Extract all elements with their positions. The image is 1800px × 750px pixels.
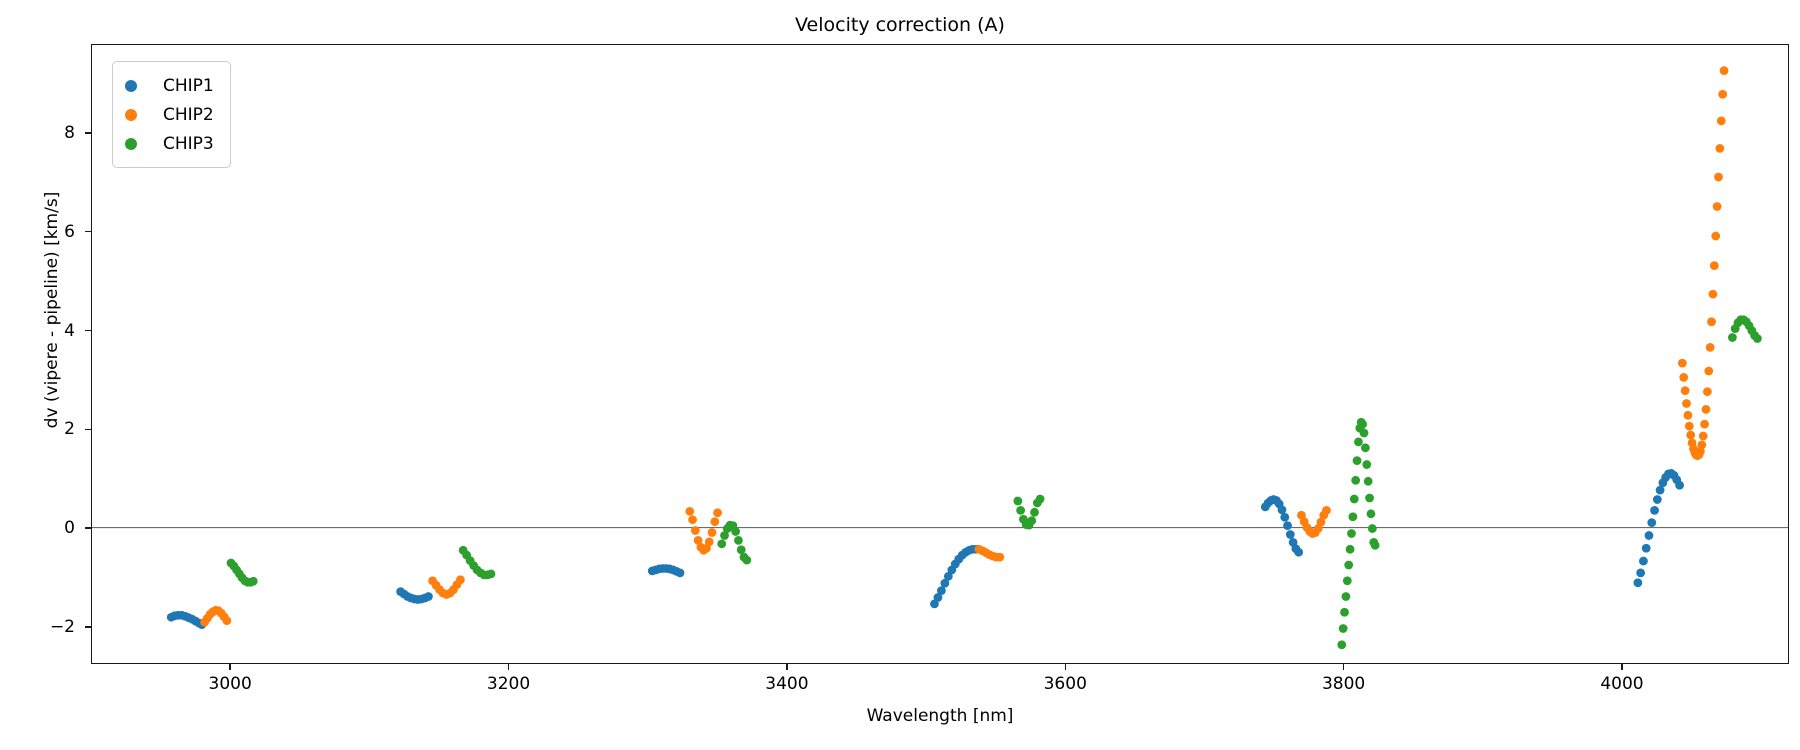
data-point (1639, 557, 1648, 566)
plot-area: CHIP1 CHIP2 CHIP3 (91, 44, 1789, 664)
data-point (456, 575, 465, 584)
data-point (1645, 531, 1654, 540)
x-tick-mark (229, 664, 230, 670)
data-point (1710, 261, 1719, 270)
data-point (1343, 576, 1352, 585)
page-title: Velocity correction (A) (0, 14, 1800, 36)
data-point (1703, 387, 1712, 396)
data-point (1368, 524, 1377, 533)
data-point (1678, 359, 1687, 368)
data-point (995, 553, 1004, 562)
data-point (1675, 481, 1684, 490)
data-point (1353, 456, 1362, 465)
data-point (1013, 497, 1022, 506)
data-point (1681, 386, 1690, 395)
legend-label-chip3: CHIP3 (163, 134, 214, 154)
data-point (1700, 420, 1709, 429)
x-tick-mark (1065, 664, 1066, 670)
data-point (1361, 443, 1370, 452)
data-point (676, 568, 685, 577)
series-chip2 (200, 66, 1728, 626)
y-tick-label: 2 (15, 419, 75, 439)
data-point (1342, 592, 1351, 601)
x-tick-label: 3200 (487, 674, 530, 694)
x-tick-label: 3600 (1044, 674, 1087, 694)
data-point (1707, 317, 1716, 326)
series-chip1 (167, 469, 1684, 629)
data-point (249, 577, 258, 586)
data-point (1283, 521, 1292, 530)
data-point (1679, 373, 1688, 382)
data-point (1718, 90, 1727, 99)
data-point (1346, 545, 1355, 554)
y-tick-label: 0 (15, 518, 75, 538)
data-point (1360, 429, 1369, 438)
data-point (1362, 460, 1371, 469)
scatter-canvas (92, 45, 1788, 663)
velocity-correction-figure: Velocity correction (A) dv (vipere - pip… (0, 0, 1800, 750)
data-point (1702, 405, 1711, 414)
data-point (1653, 495, 1662, 504)
data-point (1704, 367, 1713, 376)
data-point (1030, 508, 1039, 517)
x-tick-mark (508, 664, 509, 670)
data-point (1286, 530, 1295, 539)
data-point (1371, 541, 1380, 550)
data-point (1686, 431, 1695, 440)
data-point (1036, 495, 1045, 504)
data-point (1650, 506, 1659, 515)
data-point (1714, 173, 1723, 182)
y-tick-label: −2 (15, 617, 75, 637)
data-point (1354, 438, 1363, 447)
data-point (1340, 608, 1349, 617)
x-tick-mark (1343, 664, 1344, 670)
legend-label-chip2: CHIP2 (163, 105, 214, 125)
data-point (1642, 544, 1651, 553)
x-tick-mark (1621, 664, 1622, 670)
data-point (1351, 476, 1360, 485)
data-point (1016, 506, 1025, 515)
data-point (424, 592, 433, 601)
data-point (1350, 495, 1359, 504)
x-tick-label: 3000 (209, 674, 252, 694)
data-point (1684, 411, 1693, 420)
data-point (705, 537, 714, 546)
data-point (1294, 548, 1303, 557)
data-point (1367, 509, 1376, 518)
data-point (1682, 399, 1691, 408)
data-point (713, 508, 722, 517)
data-point (1728, 333, 1737, 342)
data-point (222, 616, 231, 625)
y-tick-label: 4 (15, 321, 75, 341)
data-point (717, 539, 726, 548)
data-point (1753, 334, 1762, 343)
legend-item-chip1[interactable]: CHIP1 (125, 71, 214, 100)
data-point (710, 517, 719, 526)
data-point (1358, 420, 1367, 429)
data-point (1636, 568, 1645, 577)
data-point (1633, 578, 1642, 587)
data-point (1364, 477, 1373, 486)
data-point (1711, 232, 1720, 241)
x-tick-mark (786, 664, 787, 670)
x-tick-label: 4000 (1600, 674, 1643, 694)
data-point (1344, 561, 1353, 570)
legend-item-chip3[interactable]: CHIP3 (125, 129, 214, 158)
data-point (742, 556, 751, 565)
data-point (1713, 202, 1722, 211)
data-point (1715, 144, 1724, 153)
data-point (688, 515, 697, 524)
legend-label-chip1: CHIP1 (163, 76, 214, 96)
legend-swatch-chip1 (125, 80, 137, 92)
data-point (1699, 432, 1708, 441)
y-tick-label: 6 (15, 222, 75, 242)
legend-swatch-chip3 (125, 138, 137, 150)
y-tick-label: 8 (15, 123, 75, 143)
data-point (1706, 343, 1715, 352)
data-point (1348, 512, 1357, 521)
data-point (487, 569, 496, 578)
data-point (1322, 506, 1331, 515)
data-point (1337, 640, 1346, 649)
data-point (1280, 513, 1289, 522)
data-point (1339, 624, 1348, 633)
data-point (685, 507, 694, 516)
data-point (1720, 66, 1729, 75)
x-tick-label: 3400 (765, 674, 808, 694)
data-point (1685, 422, 1694, 431)
data-point (734, 536, 743, 545)
data-point (691, 526, 700, 535)
legend-item-chip2[interactable]: CHIP2 (125, 100, 214, 129)
data-point (1347, 529, 1356, 538)
data-point (1697, 440, 1706, 449)
x-axis-label: Wavelength [nm] (91, 706, 1789, 726)
data-point (708, 528, 717, 537)
legend-swatch-chip2 (125, 109, 137, 121)
x-tick-label: 3800 (1322, 674, 1365, 694)
data-point (1027, 516, 1036, 525)
data-point (1365, 494, 1374, 503)
legend: CHIP1 CHIP2 CHIP3 (112, 61, 231, 168)
data-point (731, 527, 740, 536)
series-chip3 (227, 315, 1762, 649)
data-point (1709, 290, 1718, 299)
data-point (1717, 116, 1726, 125)
data-point (1647, 518, 1656, 527)
